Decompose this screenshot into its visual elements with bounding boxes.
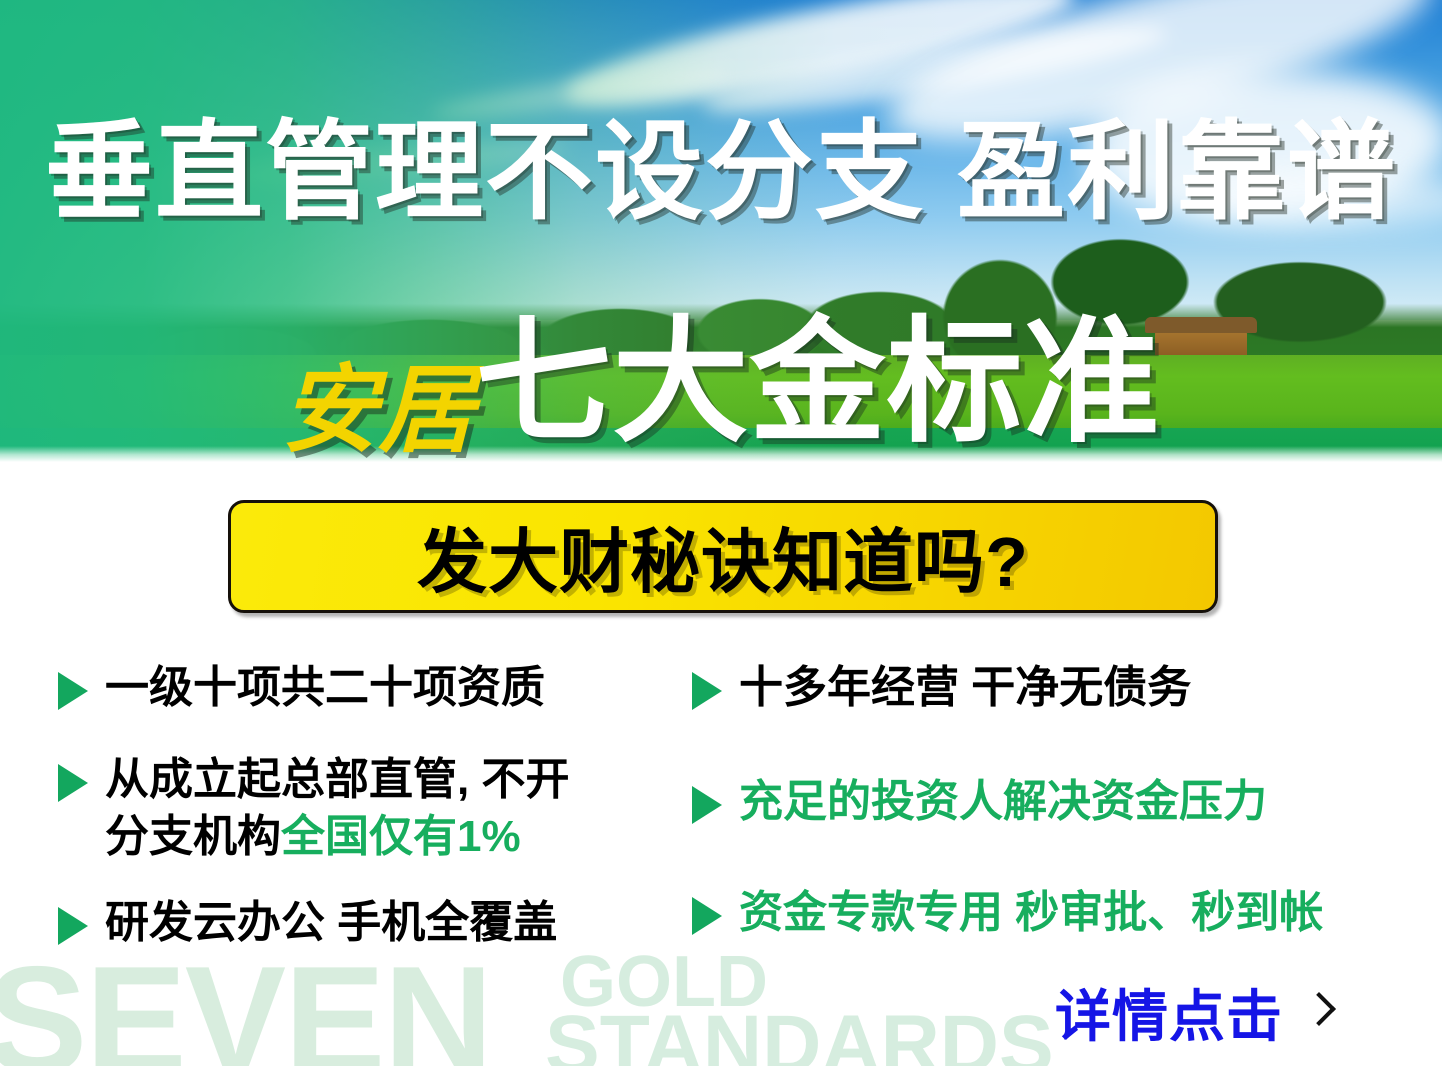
features-column-right: 十多年经营 干净无债务 充足的投资人解决资金压力 资金专款专用 秒审批、秒到帐 xyxy=(692,660,1412,969)
hero-title-main: 七大金标准 xyxy=(476,272,1161,462)
list-item-line1: 从成立起总部直管, 不开 xyxy=(105,755,569,804)
list-item-label: 从成立起总部直管, 不开分支机构全国仅有1% xyxy=(105,752,569,865)
triangle-bullet-icon xyxy=(692,786,722,824)
list-item-label: 十多年经营 干净无债务 xyxy=(739,660,1191,716)
headline-banner[interactable]: 发大财秘诀知道吗? xyxy=(228,500,1218,613)
triangle-bullet-icon xyxy=(692,897,722,935)
list-item: 从成立起总部直管, 不开分支机构全国仅有1% xyxy=(58,752,698,865)
list-item: 资金专款专用 秒审批、秒到帐 xyxy=(692,885,1412,941)
list-item-label: 充足的投资人解决资金压力 xyxy=(739,774,1267,830)
list-item-label: 资金专款专用 秒审批、秒到帐 xyxy=(739,885,1323,941)
features-columns: 一级十项共二十项资质 从成立起总部直管, 不开分支机构全国仅有1% 研发云办公 … xyxy=(0,660,1442,1000)
hero-banner: 垂直管理不设分支 盈利靠谱 安居七大金标准 xyxy=(0,0,1442,462)
list-item-label: 一级十项共二十项资质 xyxy=(105,660,545,716)
details-cta-label: 详情点击 xyxy=(1055,972,1283,1053)
list-item: 十多年经营 干净无债务 xyxy=(692,660,1412,716)
list-item-line2-plain: 分支机构 xyxy=(105,812,281,861)
list-item: 研发云办公 手机全覆盖 xyxy=(58,895,698,951)
list-item-label: 研发云办公 手机全覆盖 xyxy=(105,895,557,951)
features-column-left: 一级十项共二十项资质 从成立起总部直管, 不开分支机构全国仅有1% 研发云办公 … xyxy=(58,660,698,979)
watermark-standards: STANDARDS xyxy=(545,1004,1054,1066)
hero-title-line1: 垂直管理不设分支 盈利靠谱 xyxy=(0,118,1442,226)
list-item-line2-highlight: 全国仅有1% xyxy=(281,812,521,861)
hero-title-line2: 安居七大金标准 xyxy=(0,272,1442,462)
triangle-bullet-icon xyxy=(58,764,88,802)
triangle-bullet-icon xyxy=(58,672,88,710)
triangle-bullet-icon xyxy=(58,907,88,945)
hero-title-brand: 安居 xyxy=(282,332,476,462)
triangle-bullet-icon xyxy=(692,672,722,710)
list-item: 充足的投资人解决资金压力 xyxy=(692,774,1412,830)
headline-banner-text: 发大财秘诀知道吗? xyxy=(417,506,1029,607)
list-item: 一级十项共二十项资质 xyxy=(58,660,698,716)
chevron-right-icon xyxy=(1305,994,1327,1032)
details-cta-button[interactable]: 详情点击 xyxy=(1055,972,1327,1053)
